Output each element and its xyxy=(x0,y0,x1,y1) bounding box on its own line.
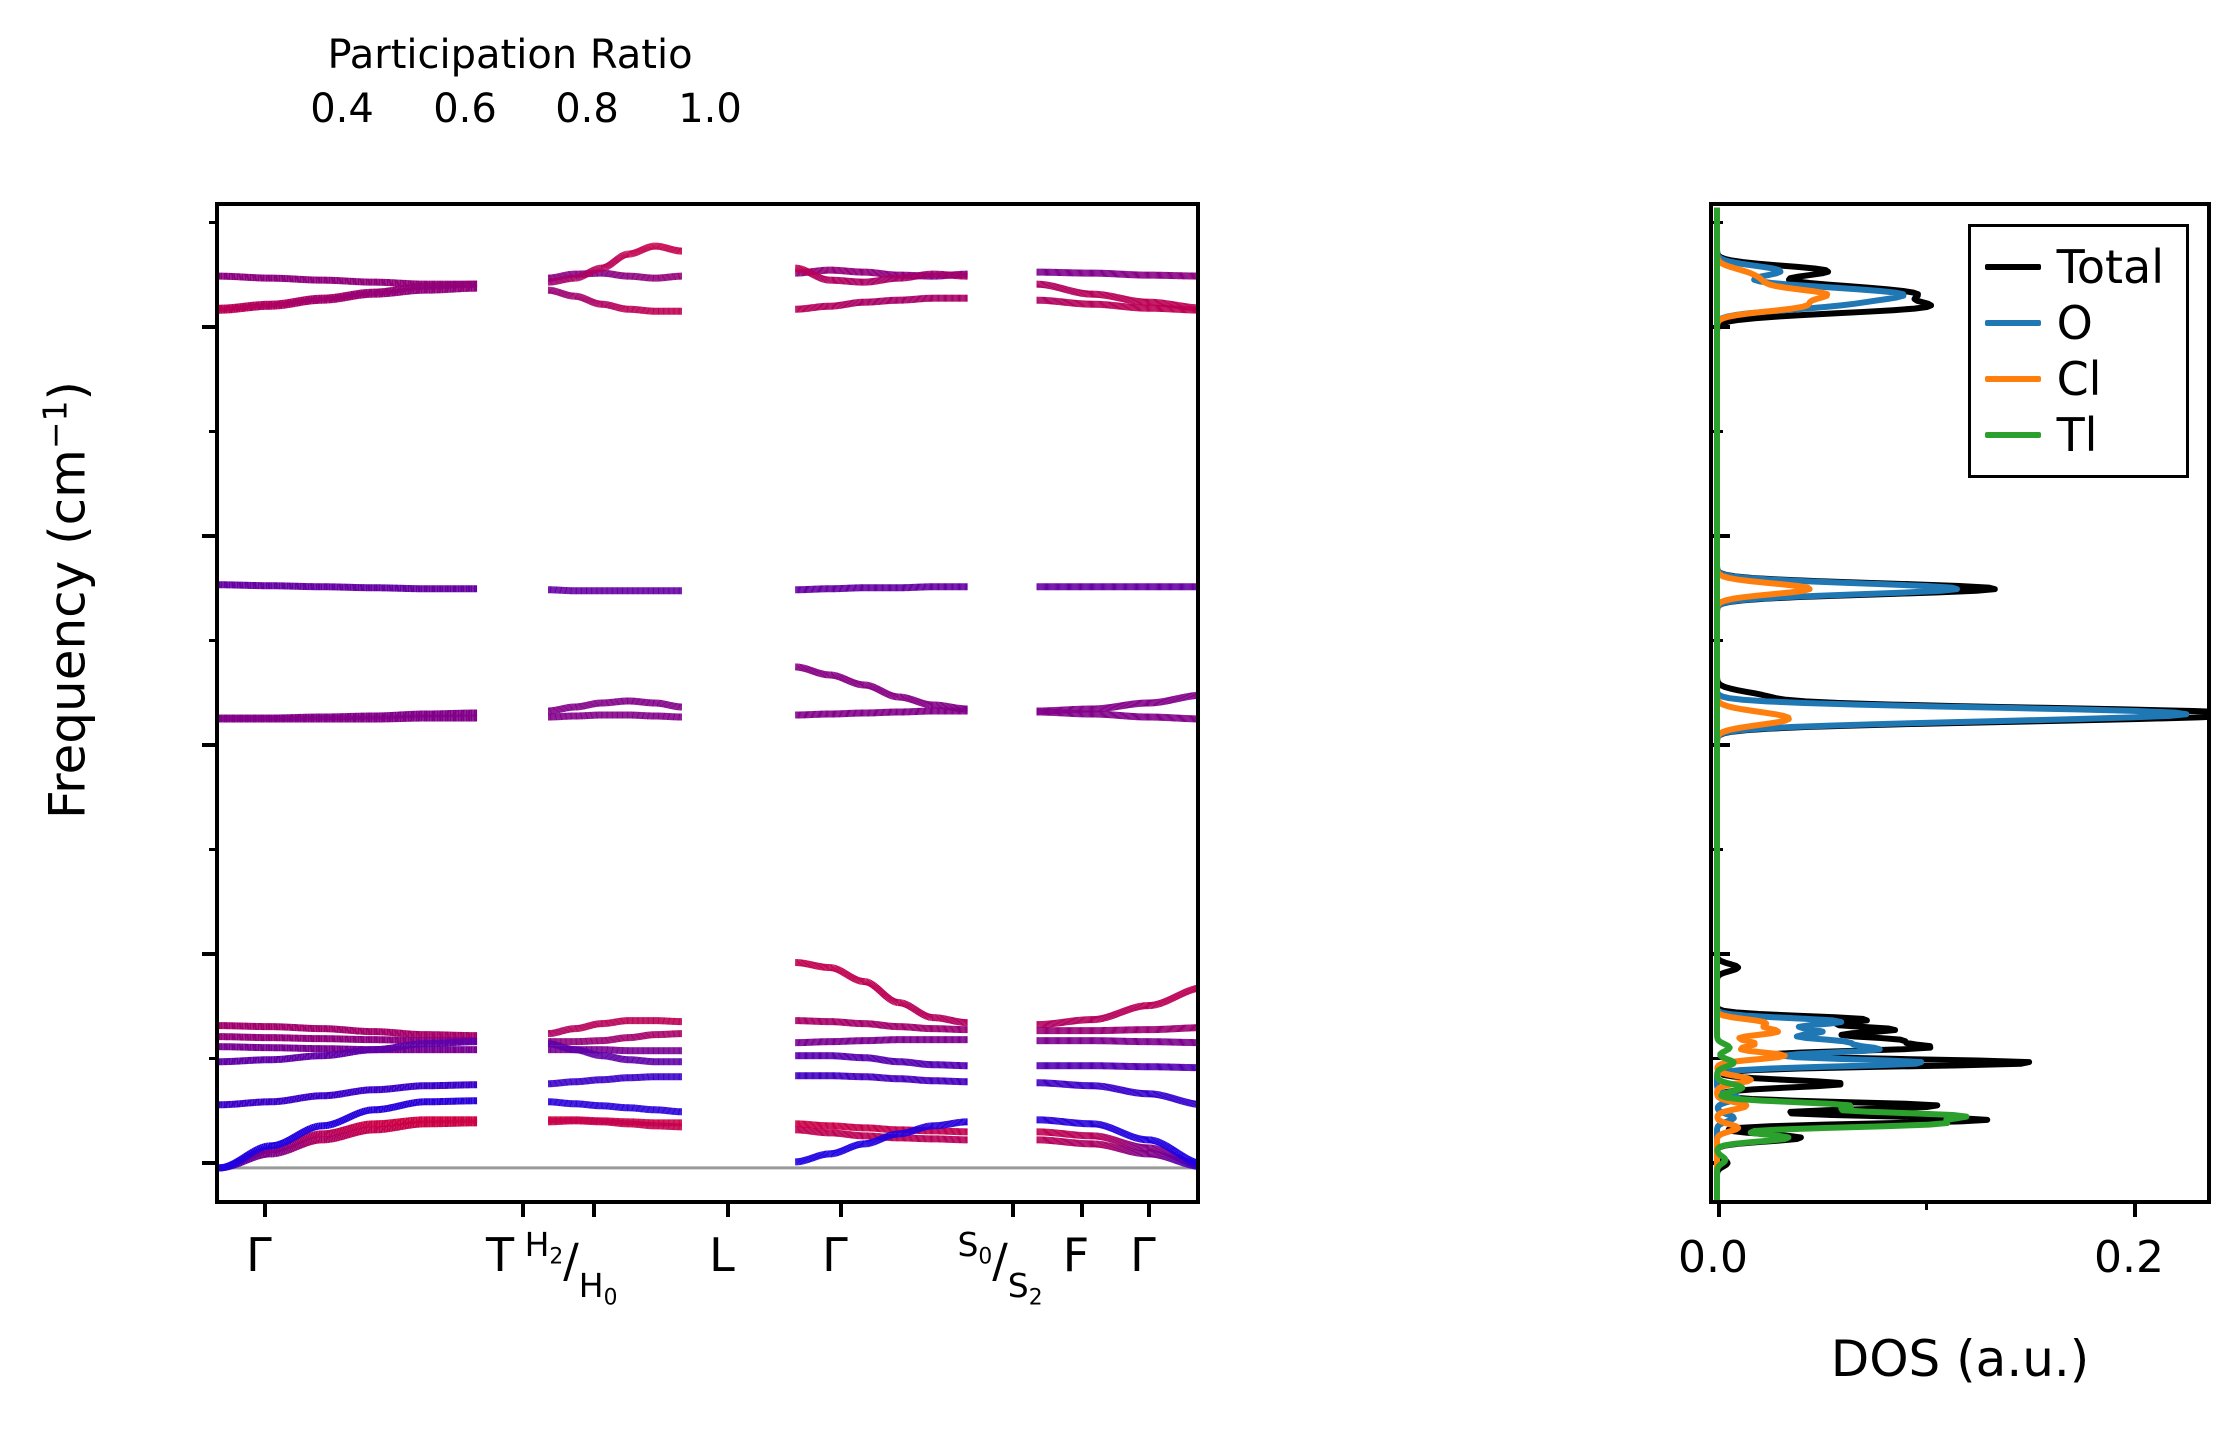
band-curve-segment xyxy=(612,262,613,263)
y-tick-minor-300 xyxy=(209,848,219,851)
band-curve-segment xyxy=(839,970,840,971)
band-curve-segment xyxy=(621,256,622,257)
band-curve-segment xyxy=(843,972,844,973)
colorbar-tick-label-2: 0.8 xyxy=(527,86,647,132)
band-curve-segment xyxy=(618,258,619,259)
band-curve-segment xyxy=(1177,996,1178,997)
band-curve-segment xyxy=(891,1000,892,1001)
band-curve-segment xyxy=(1172,998,1173,999)
band-curve-segment xyxy=(890,999,891,1000)
y-tick-minor-500 xyxy=(209,639,219,642)
band-curve-segment xyxy=(612,263,613,264)
x-tick-F xyxy=(1080,1200,1084,1217)
band-curve-segment xyxy=(847,975,848,976)
band-curve-segment xyxy=(879,690,880,691)
x-tick-gamma-2 xyxy=(839,1200,843,1217)
band-curve-segment xyxy=(1174,997,1175,998)
x-tick-S0S2 xyxy=(1011,1200,1015,1217)
band-curve-segment xyxy=(888,998,889,999)
phonon-band-structure-axes xyxy=(215,202,1200,1204)
band-curve-segment xyxy=(845,973,846,974)
y-tick-400 xyxy=(202,743,219,747)
band-curve-segment xyxy=(873,985,874,986)
x-tick-H2H0 xyxy=(592,1200,596,1217)
y-tick-600 xyxy=(202,534,219,538)
colorbar-tick-label-3: 1.0 xyxy=(650,86,770,132)
band-curve-segment xyxy=(906,1004,907,1005)
band-curve-segment xyxy=(875,986,876,987)
band-curve-segment xyxy=(916,1010,917,1011)
band-curve-segment xyxy=(881,992,882,993)
band-curve-segment xyxy=(620,257,621,258)
y-tick-800 xyxy=(202,325,219,329)
band-curve-segment xyxy=(880,690,881,691)
band-curve-segment xyxy=(919,1012,920,1013)
band-curve-segment xyxy=(886,693,887,694)
band-curve-segment xyxy=(617,259,618,260)
y-axis-label: Frequency (cm−1) xyxy=(36,381,97,819)
x-tick-T xyxy=(521,1200,525,1217)
band-curve-segment xyxy=(1176,996,1177,997)
band-curve-segment xyxy=(920,1013,921,1014)
band-curve-segment xyxy=(613,262,614,263)
band-curve-segment xyxy=(879,990,880,991)
band-curve-segment xyxy=(882,993,883,994)
band-curve-segment xyxy=(816,276,817,277)
band-curve-segment xyxy=(911,1007,912,1008)
band-curve-segment xyxy=(876,688,877,689)
band-curve-segment xyxy=(838,970,839,971)
band-curve-segment xyxy=(925,1015,926,1016)
band-curve-segment xyxy=(914,1009,915,1010)
phonon-band-curves xyxy=(219,206,1196,1200)
x-tick-L xyxy=(726,1200,730,1217)
band-curve-segment xyxy=(619,257,620,258)
band-curve-segment xyxy=(886,996,887,997)
band-curve-segment xyxy=(614,261,615,262)
band-svg xyxy=(219,206,1196,1200)
band-curve-segment xyxy=(887,694,888,695)
band-curve-segment xyxy=(921,1014,922,1015)
band-curve-segment xyxy=(844,973,845,974)
band-curve-segment xyxy=(889,999,890,1000)
band-curve-segment xyxy=(840,971,841,972)
band-curve-segment xyxy=(887,997,888,998)
band-curve-segment xyxy=(809,272,810,273)
band-curve-segment xyxy=(853,978,854,979)
band-curve-segment xyxy=(878,989,879,990)
band-curve-segment xyxy=(814,275,815,276)
band-curve-segment xyxy=(885,995,886,996)
band-curve-segment xyxy=(617,259,618,260)
band-curve-segment xyxy=(1180,994,1181,995)
band-curve-segment xyxy=(884,994,885,995)
band-curve-segment xyxy=(892,1001,893,1002)
band-curve-segment xyxy=(842,971,843,972)
colorbar-tick-label-1: 0.6 xyxy=(405,86,525,132)
band-curve-segment xyxy=(907,1005,908,1006)
band-curve-segment xyxy=(923,1015,924,1016)
band-curve-segment xyxy=(1179,995,1180,996)
band-curve-segment xyxy=(878,689,879,690)
band-curve-segment xyxy=(615,260,616,261)
band-curve-segment xyxy=(1178,995,1179,996)
band-curve-segment xyxy=(608,265,609,266)
band-curve-segment xyxy=(852,978,853,979)
band-curve-segment xyxy=(1173,998,1174,999)
y-tick-minor-100 xyxy=(209,1057,219,1060)
phonon-figure: Participation Ratio 0.4 0.6 0.8 1.0 Freq… xyxy=(0,0,2222,1455)
colorbar-title: Participation Ratio xyxy=(305,32,715,78)
band-curve-segment xyxy=(807,271,808,272)
band-curve-segment xyxy=(849,976,850,977)
band-curve-segment xyxy=(610,264,611,265)
y-tick-minor-700 xyxy=(209,430,219,433)
band-curve-segment xyxy=(609,265,610,266)
band-curve-segment xyxy=(851,977,852,978)
y-tick-0 xyxy=(202,1161,219,1165)
band-curve-segment xyxy=(854,979,855,980)
band-curve-segment xyxy=(1175,997,1176,998)
band-curve-segment xyxy=(806,271,807,272)
colorbar-tick-label-0: 0.4 xyxy=(282,86,402,132)
band-curve-segment xyxy=(872,984,873,985)
band-curve-segment xyxy=(876,987,877,988)
band-curve-segment xyxy=(881,691,882,692)
x-tick-gamma-1 xyxy=(263,1200,267,1217)
band-curve-segment xyxy=(922,1014,923,1015)
band-curve-segment xyxy=(874,986,875,987)
band-curve-segment xyxy=(811,274,812,275)
band-curve-segment xyxy=(817,276,818,277)
band-curve-segment xyxy=(815,275,816,276)
band-curve-segment xyxy=(913,1008,914,1009)
band-curve-segment xyxy=(909,1006,910,1007)
x-tick-gamma-3 xyxy=(1147,1200,1151,1217)
band-curve-segment xyxy=(912,1007,913,1008)
band-curve-segment xyxy=(818,277,819,278)
band-curve-segment xyxy=(808,272,809,273)
band-curve-segment xyxy=(884,692,885,693)
band-curve-segment xyxy=(918,1012,919,1013)
band-curve-segment xyxy=(877,988,878,989)
band-curve-segment xyxy=(908,1005,909,1006)
band-curve-segment xyxy=(915,1009,916,1010)
band-curve-segment xyxy=(917,1011,918,1012)
band-curve-segment xyxy=(616,260,617,261)
band-curve-segment xyxy=(882,692,883,693)
band-curve-segment xyxy=(846,974,847,975)
band-curve-segment xyxy=(850,976,851,977)
band-curve-segment xyxy=(611,264,612,265)
y-tick-minor-900 xyxy=(209,221,219,224)
band-curve-segment xyxy=(875,688,876,689)
band-curve-segment xyxy=(848,975,849,976)
band-curve-segment xyxy=(877,689,878,690)
band-curve-segment xyxy=(880,991,881,992)
band-curve-segment xyxy=(870,983,871,984)
band-curve-segment xyxy=(812,274,813,275)
y-tick-200 xyxy=(202,952,219,956)
band-curve-segment xyxy=(871,983,872,984)
band-curve-segment xyxy=(810,273,811,274)
band-curve-segment xyxy=(885,693,886,694)
